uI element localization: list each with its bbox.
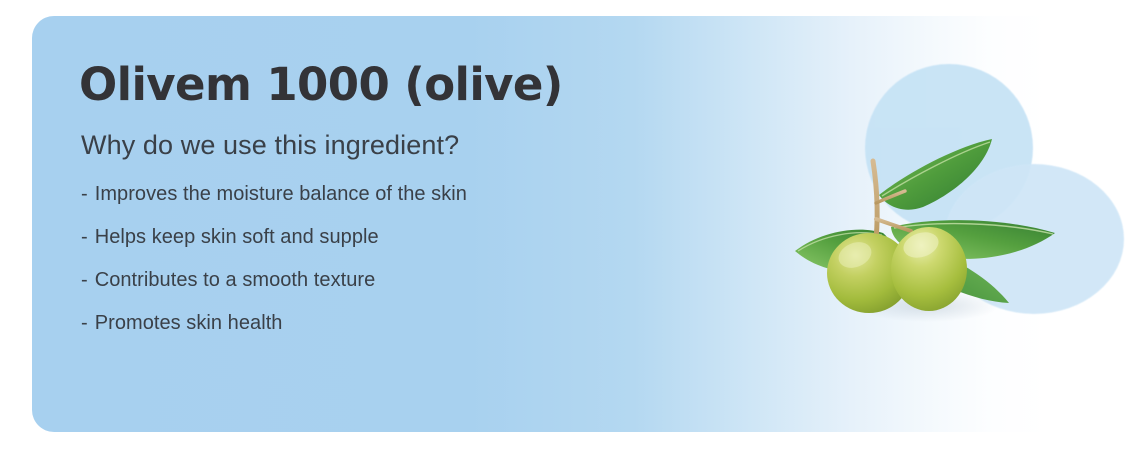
list-item: -Improves the moisture balance of the sk… xyxy=(81,183,719,206)
list-item-label: Contributes to a smooth texture xyxy=(95,269,376,291)
dash-bullet: - xyxy=(81,226,88,248)
list-item: -Contributes to a smooth texture xyxy=(81,269,719,292)
olive-fruit-right xyxy=(891,227,967,311)
leaf-upper-right xyxy=(879,139,992,210)
dash-bullet: - xyxy=(81,269,88,291)
list-item-label: Promotes skin health xyxy=(95,312,283,334)
dash-bullet: - xyxy=(81,183,88,205)
list-item: -Helps keep skin soft and supple xyxy=(81,226,719,249)
ingredient-banner-card: Olivem 1000 (olive) Why do we use this i… xyxy=(32,16,1125,432)
dash-bullet: - xyxy=(81,312,88,334)
page-title: Olivem 1000 (olive) xyxy=(79,61,719,108)
list-item-label: Improves the moisture balance of the ski… xyxy=(95,183,467,205)
benefit-list: -Improves the moisture balance of the sk… xyxy=(79,183,719,335)
banner-subtitle: Why do we use this ingredient? xyxy=(81,130,719,161)
list-item-label: Helps keep skin soft and supple xyxy=(95,226,379,248)
list-item: -Promotes skin health xyxy=(81,312,719,335)
banner-text-column: Olivem 1000 (olive) Why do we use this i… xyxy=(79,61,719,335)
olive-branch-illustration xyxy=(787,121,1087,336)
